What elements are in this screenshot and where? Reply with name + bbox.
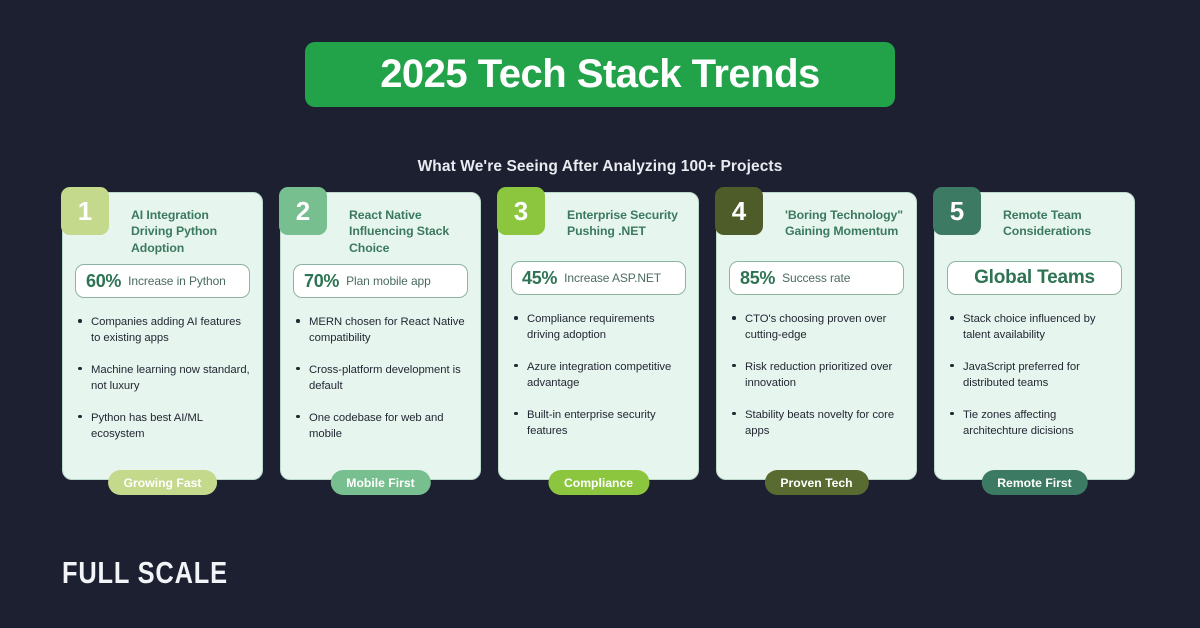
list-item: Azure integration competitive advantage	[511, 359, 686, 392]
card-bullet-list: MERN chosen for React Native compatibili…	[293, 314, 468, 442]
stat-value: 45%	[522, 268, 557, 289]
card-bullet-list: Compliance requirements driving adoption…	[511, 311, 686, 439]
card-title: Enterprise Security Pushing .NET	[567, 207, 686, 240]
list-item: Risk reduction prioritized over innovati…	[729, 359, 904, 392]
page-subtitle: What We're Seeing After Analyzing 100+ P…	[0, 158, 1200, 176]
card-bullet-list: Companies adding AI features to existing…	[75, 314, 250, 442]
list-item: JavaScript preferred for distributed tea…	[947, 359, 1122, 392]
list-item: Cross-platform development is default	[293, 362, 468, 395]
status-badge: Proven Tech	[764, 470, 868, 495]
status-badge: Remote First	[981, 470, 1088, 495]
status-badge: Growing Fast	[108, 470, 218, 495]
list-item: Compliance requirements driving adoption	[511, 311, 686, 344]
card-number-badge: 5	[933, 187, 981, 235]
list-item: One codebase for web and mobile	[293, 410, 468, 443]
list-item: Python has best AI/ML ecosystem	[75, 410, 250, 443]
stat-label: Increase ASP.NET	[564, 271, 661, 285]
card-title: 'Boring Technology" Gaining Momentum	[785, 207, 904, 240]
card-title: AI Integration Driving Python Adoption	[131, 207, 250, 256]
card-number-badge: 1	[61, 187, 109, 235]
stat-label: Plan mobile app	[346, 274, 431, 288]
stat-headline: Global Teams	[974, 267, 1095, 289]
list-item: Stack choice influenced by talent availa…	[947, 311, 1122, 344]
stat-box: Global Teams	[947, 261, 1122, 295]
brand-logo: FULL SCALE	[62, 555, 228, 591]
list-item: Stability beats novelty for core apps	[729, 407, 904, 440]
trend-card: 2React Native Influencing Stack Choice70…	[280, 192, 481, 480]
list-item: Tie zones affecting architechture dicisi…	[947, 407, 1122, 440]
list-item: CTO's choosing proven over cutting-edge	[729, 311, 904, 344]
stat-box: 60%Increase in Python	[75, 264, 250, 298]
trend-card: 3Enterprise Security Pushing .NET45%Incr…	[498, 192, 699, 480]
card-title: React Native Influencing Stack Choice	[349, 207, 468, 256]
stat-box: 45%Increase ASP.NET	[511, 261, 686, 295]
list-item: MERN chosen for React Native compatibili…	[293, 314, 468, 347]
trend-card: 1AI Integration Driving Python Adoption6…	[62, 192, 263, 480]
card-bullet-list: Stack choice influenced by talent availa…	[947, 311, 1122, 439]
card-number-badge: 4	[715, 187, 763, 235]
stat-value: 60%	[86, 271, 121, 292]
list-item: Machine learning now standard, not luxur…	[75, 362, 250, 395]
title-banner: 2025 Tech Stack Trends	[305, 42, 895, 107]
stat-label: Increase in Python	[128, 274, 226, 288]
card-title: Remote Team Considerations	[1003, 207, 1122, 240]
trend-card: 5Remote Team ConsiderationsGlobal TeamsS…	[934, 192, 1135, 480]
stat-label: Success rate	[782, 271, 850, 285]
stat-value: 85%	[740, 268, 775, 289]
trend-card: 4'Boring Technology" Gaining Momentum85%…	[716, 192, 917, 480]
card-bullet-list: CTO's choosing proven over cutting-edgeR…	[729, 311, 904, 439]
card-number-badge: 3	[497, 187, 545, 235]
stat-value: 70%	[304, 271, 339, 292]
card-number-badge: 2	[279, 187, 327, 235]
stat-box: 70%Plan mobile app	[293, 264, 468, 298]
list-item: Built-in enterprise security features	[511, 407, 686, 440]
trend-cards-row: 1AI Integration Driving Python Adoption6…	[62, 192, 1137, 480]
page-title: 2025 Tech Stack Trends	[380, 52, 820, 97]
stat-box: 85%Success rate	[729, 261, 904, 295]
list-item: Companies adding AI features to existing…	[75, 314, 250, 347]
status-badge: Compliance	[548, 470, 649, 495]
status-badge: Mobile First	[330, 470, 430, 495]
